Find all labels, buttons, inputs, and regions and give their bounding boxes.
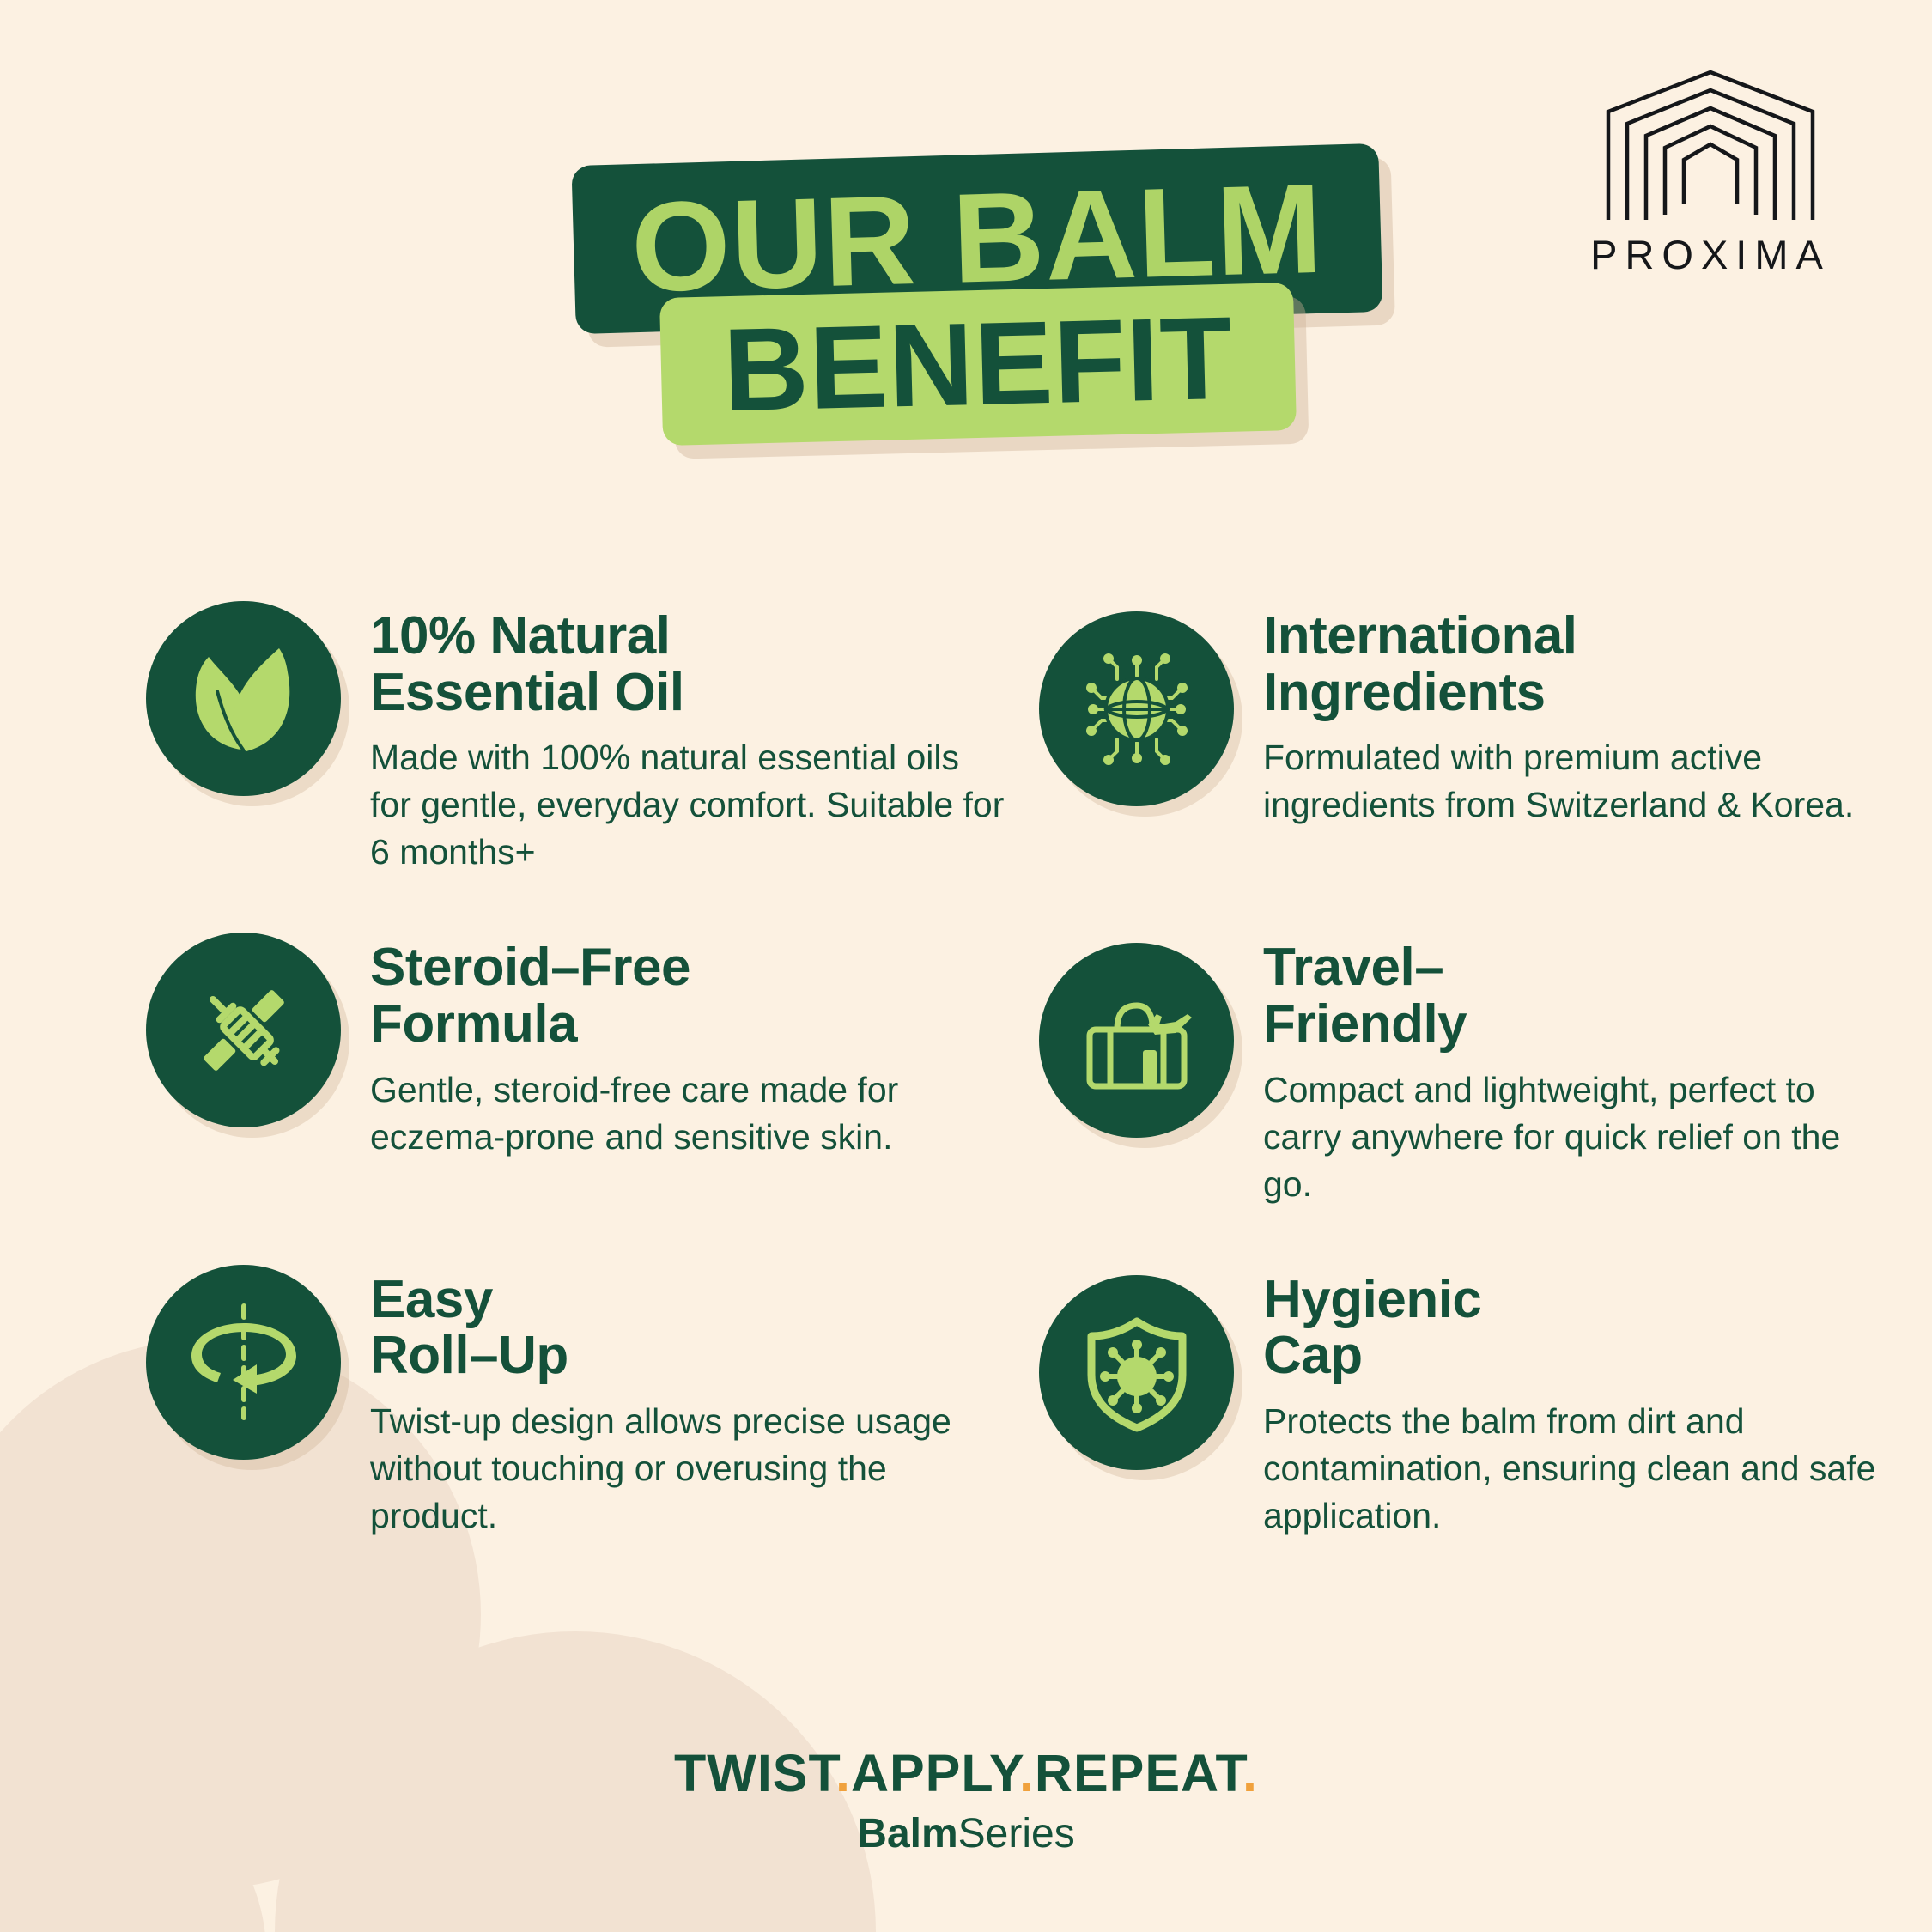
benefit-title: Hygienic Cap bbox=[1263, 1272, 1898, 1384]
suitcase-airplane-icon bbox=[1072, 976, 1201, 1105]
benefit-text: International Ingredients Formulated wit… bbox=[1263, 601, 1898, 829]
tagline-dot-1: . bbox=[835, 1744, 851, 1802]
benefit-text: Travel– Friendly Compact and lightweight… bbox=[1263, 933, 1898, 1207]
benefit-title: Steroid–Free Formula bbox=[370, 939, 1005, 1052]
benefit-description: Protects the balm from dirt and contamin… bbox=[1263, 1398, 1898, 1540]
tagline: TWIST.APPLY.REPEAT. bbox=[0, 1747, 1932, 1800]
footer: TWIST.APPLY.REPEAT. BalmSeries bbox=[0, 1747, 1932, 1857]
benefit-icon-badge bbox=[146, 933, 341, 1127]
benefit-icon-badge bbox=[1039, 1275, 1234, 1470]
leaf-icon bbox=[179, 635, 308, 763]
benefit-icon-badge bbox=[1039, 943, 1234, 1138]
benefit-icon-badge bbox=[1039, 611, 1234, 806]
benefit-item: Hygienic Cap Protects the balm from dirt… bbox=[1039, 1265, 1898, 1540]
benefit-text: 10% Natural Essential Oil Made with 100%… bbox=[370, 601, 1005, 876]
benefit-title: International Ingredients bbox=[1263, 608, 1898, 720]
benefit-description: Formulated with premium active ingredien… bbox=[1263, 734, 1898, 829]
benefit-icon-badge bbox=[146, 1265, 341, 1460]
infographic-canvas: PROXIMA OUR BALM BENEFIT 10% Natural Ess… bbox=[0, 0, 1932, 1932]
tagline-apply: APPLY bbox=[851, 1744, 1019, 1802]
page-title: OUR BALM BENEFIT bbox=[0, 129, 1932, 489]
series-name: BalmSeries bbox=[0, 1812, 1932, 1857]
benefit-item: Travel– Friendly Compact and lightweight… bbox=[1039, 933, 1898, 1207]
benefit-title: Easy Roll–Up bbox=[370, 1272, 1005, 1384]
shield-germ-icon bbox=[1072, 1308, 1201, 1437]
tagline-twist: TWIST bbox=[674, 1744, 835, 1802]
benefit-description: Twist-up design allows precise usage wit… bbox=[370, 1398, 1005, 1540]
benefit-title: Travel– Friendly bbox=[1263, 939, 1898, 1052]
benefit-title: 10% Natural Essential Oil bbox=[370, 608, 1005, 720]
tagline-repeat: REPEAT bbox=[1035, 1744, 1242, 1802]
benefit-item: 10% Natural Essential Oil Made with 100%… bbox=[146, 601, 1005, 876]
title-line-2: BENEFIT bbox=[722, 299, 1234, 428]
benefit-item: International Ingredients Formulated wit… bbox=[1039, 601, 1898, 876]
globe-network-icon bbox=[1072, 645, 1201, 774]
benefit-icon-badge bbox=[146, 601, 341, 796]
syringe-crossed-out-icon bbox=[179, 966, 308, 1095]
benefit-description: Compact and lightweight, perfect to carr… bbox=[1263, 1066, 1898, 1208]
series-name-light: Series bbox=[958, 1811, 1075, 1856]
benefit-text: Hygienic Cap Protects the balm from dirt… bbox=[1263, 1265, 1898, 1540]
tagline-dot-3: . bbox=[1242, 1744, 1258, 1802]
benefit-item: Steroid–Free Formula Gentle, steroid-fre… bbox=[146, 933, 1005, 1207]
benefits-grid: 10% Natural Essential Oil Made with 100%… bbox=[0, 601, 1932, 1540]
benefit-description: Gentle, steroid-free care made for eczem… bbox=[370, 1066, 1005, 1161]
benefit-item: Easy Roll–Up Twist-up design allows prec… bbox=[146, 1265, 1005, 1540]
tagline-dot-2: . bbox=[1019, 1744, 1035, 1802]
benefit-text: Steroid–Free Formula Gentle, steroid-fre… bbox=[370, 933, 1005, 1160]
series-name-bold: Balm bbox=[857, 1811, 957, 1856]
title-banner-secondary: BENEFIT bbox=[659, 283, 1297, 446]
rotation-arrow-icon bbox=[179, 1297, 308, 1426]
benefit-text: Easy Roll–Up Twist-up design allows prec… bbox=[370, 1265, 1005, 1540]
benefit-description: Made with 100% natural essential oils fo… bbox=[370, 734, 1005, 876]
